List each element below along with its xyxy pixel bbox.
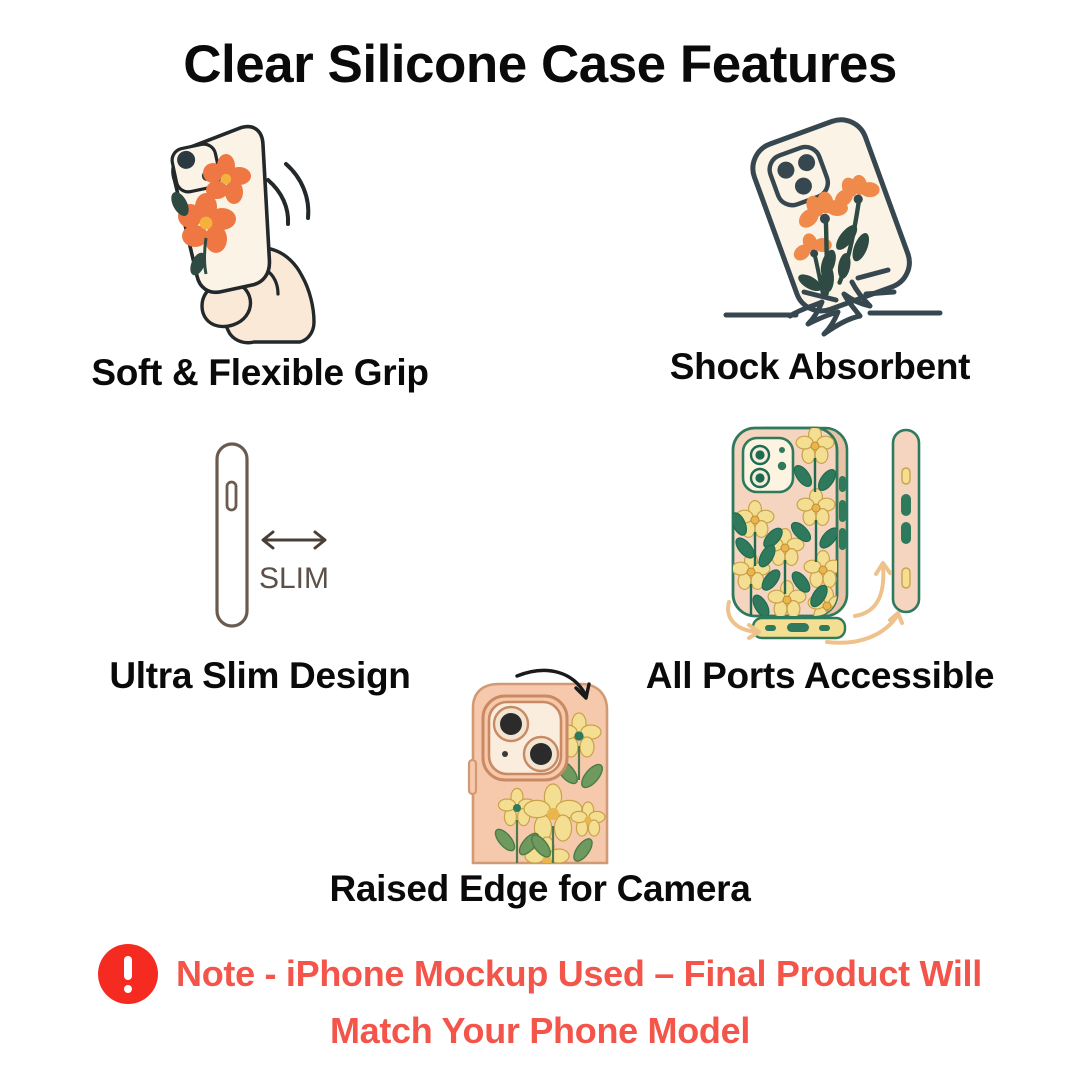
note-text-line1: Note - iPhone Mockup Used – Final Produc… [176,953,982,995]
feature-label-soft-flexible-grip: Soft & Flexible Grip [0,352,520,394]
phone-case-ports-cutouts-icon [715,420,940,645]
feature-infographic-page: Clear Silicone Case Features [0,0,1080,1080]
hand-holding-flexible-phone-case-icon [150,118,370,343]
feature-label-shock-absorbent: Shock Absorbent [560,346,1080,388]
exclamation-circle-icon [98,944,158,1004]
exclamation-mark [124,954,132,994]
note-text-line2: Match Your Phone Model [330,1010,750,1052]
phone-side-profile-slim-icon: SLIM [195,440,345,630]
phone-case-impact-burst-icon [718,120,953,335]
page-title: Clear Silicone Case Features [0,34,1080,95]
phone-case-raised-camera-edge-icon [455,668,625,863]
feature-label-ultra-slim-design: Ultra Slim Design [0,655,520,697]
feature-label-all-ports-accessible: All Ports Accessible [560,655,1080,697]
note-banner: Note - iPhone Mockup Used – Final Produc… [0,944,1080,1052]
feature-label-raised-edge-for-camera: Raised Edge for Camera [0,868,1080,910]
slim-caption: SLIM [259,562,329,595]
note-line-1: Note - iPhone Mockup Used – Final Produc… [98,944,982,1004]
